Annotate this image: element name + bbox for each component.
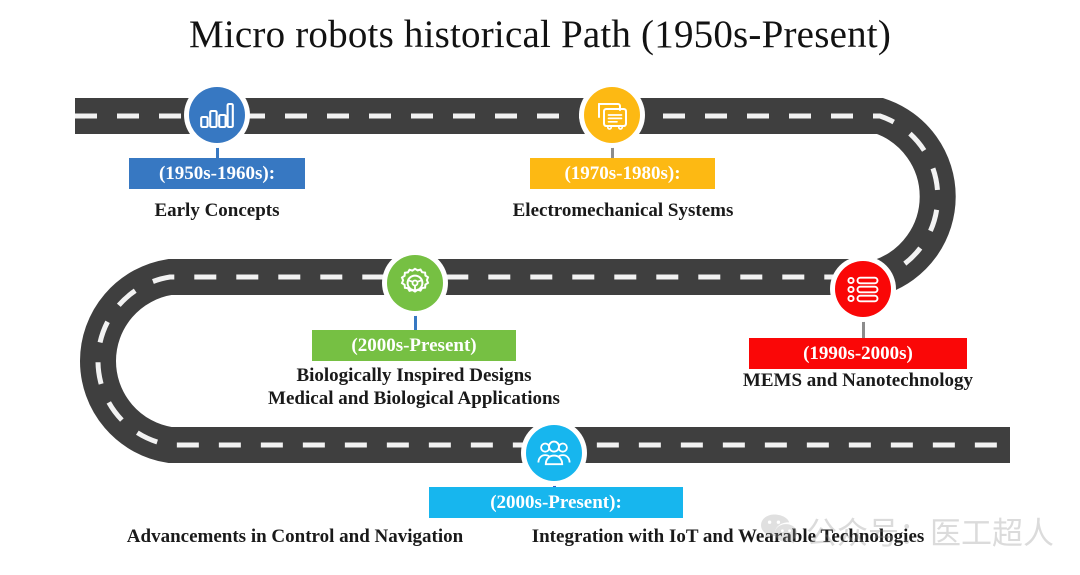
people-group-icon	[537, 440, 571, 466]
bar-chart-icon	[200, 102, 234, 128]
chip-early-concepts: (1950s-1960s):	[129, 158, 305, 189]
caption-advancements-control-navigation: Advancements in Control and Navigation	[82, 525, 508, 548]
list-icon	[847, 276, 879, 303]
caption-electromechanical-systems: Electromechanical Systems	[463, 199, 783, 222]
caption-line-1: Advancements in Control and Navigation	[127, 526, 463, 547]
caption-line-1: Electromechanical Systems	[513, 200, 734, 221]
chip-electromechanical-systems: (1970s-1980s):	[530, 158, 715, 189]
node-disc-green	[387, 255, 443, 311]
node-disc-red	[835, 261, 891, 317]
chip-label: (2000s-Present):	[490, 492, 622, 514]
caption-line-1: MEMS and Nanotechnology	[743, 370, 973, 391]
chip-label: (1990s-2000s)	[803, 343, 913, 365]
node-disc-amber	[584, 87, 640, 143]
documents-icon	[596, 101, 629, 130]
chip-label: (1970s-1980s):	[564, 163, 680, 185]
node-disc-cyan	[526, 425, 582, 481]
node-integration-iot-wearable[interactable]	[521, 420, 587, 486]
caption-line-2: Medical and Biological Applications	[224, 387, 604, 410]
node-mems-nanotechnology[interactable]	[830, 256, 896, 322]
chip-biologically-inspired-designs: (2000s-Present)	[312, 330, 516, 361]
caption-biologically-inspired-designs: Biologically Inspired Designs Medical an…	[224, 364, 604, 410]
chip-integration-iot-wearable: (2000s-Present):	[429, 487, 683, 518]
node-early-concepts[interactable]	[184, 82, 250, 148]
node-biologically-inspired-designs[interactable]	[382, 250, 448, 316]
caption-integration-iot-wearable: Integration with IoT and Wearable Techno…	[478, 525, 978, 548]
chip-label: (1950s-1960s):	[159, 163, 275, 185]
gear-steering-icon	[398, 266, 432, 300]
node-electromechanical-systems[interactable]	[579, 82, 645, 148]
infographic-canvas: Micro robots historical Path (1950s-Pres…	[0, 0, 1080, 575]
node-disc-blue	[189, 87, 245, 143]
caption-line-1: Early Concepts	[154, 200, 279, 221]
caption-early-concepts: Early Concepts	[66, 199, 368, 222]
chip-label: (2000s-Present)	[351, 335, 476, 357]
chip-mems-nanotechnology: (1990s-2000s)	[749, 338, 967, 369]
caption-line-1: Integration with IoT and Wearable Techno…	[532, 526, 925, 547]
caption-mems-nanotechnology: MEMS and Nanotechnology	[708, 369, 1008, 392]
caption-line-1: Biologically Inspired Designs	[296, 365, 531, 386]
